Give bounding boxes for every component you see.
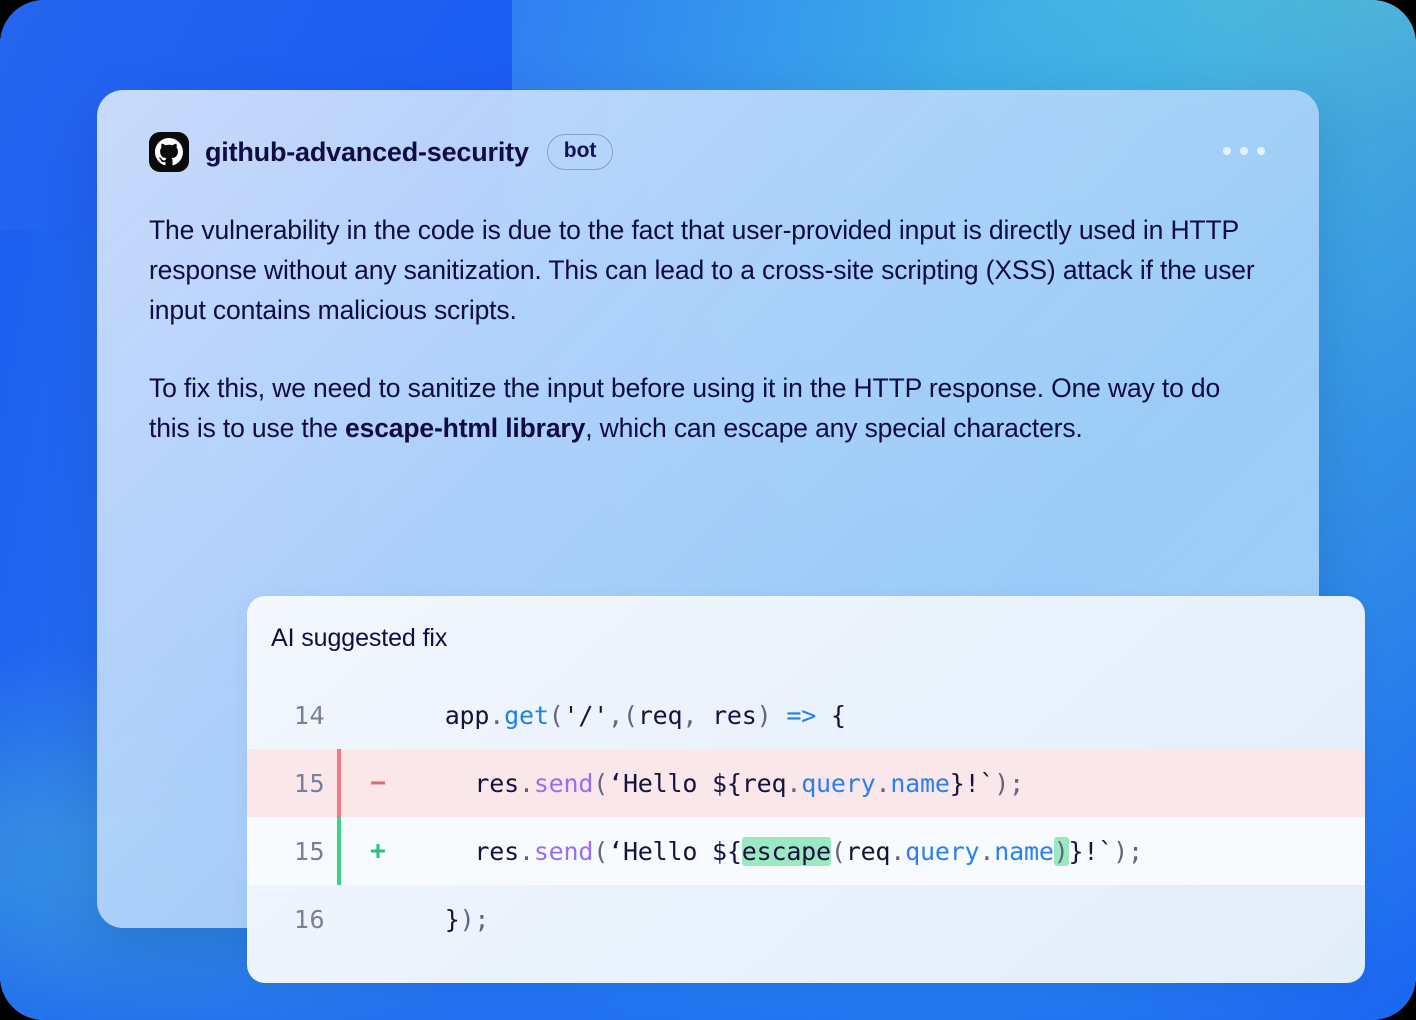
ellipsis-dot (1257, 147, 1265, 155)
comment-card: github-advanced-security bot The vulnera… (97, 90, 1319, 928)
diff-row-added[interactable]: 15 + res.send(‘Hello ${escape(req.query.… (247, 817, 1365, 885)
line-number: 16 (247, 905, 337, 934)
ellipsis-dot (1240, 147, 1248, 155)
diff-row-context[interactable]: 16 }); (247, 885, 1365, 953)
code-line: app.get('/',(req, res) => { (415, 701, 1365, 730)
line-number: 15 (247, 837, 337, 866)
diff-gutter-bar (337, 681, 341, 749)
bot-badge: bot (547, 134, 614, 170)
diff-gutter-bar (337, 885, 341, 953)
line-number: 15 (247, 769, 337, 798)
gradient-background: github-advanced-security bot The vulnera… (0, 0, 1416, 1020)
ellipsis-dot (1223, 147, 1231, 155)
github-octocat-icon (149, 132, 189, 172)
diff-row-deleted[interactable]: 15 − res.send(‘Hello ${req.query.name}!`… (247, 749, 1365, 817)
body-paragraph-2: To fix this, we need to sanitize the inp… (149, 368, 1267, 448)
added-token-escape: escape (742, 837, 831, 866)
code-line: }); (415, 905, 1365, 934)
diff-sign-plus: + (341, 836, 415, 866)
escape-html-library-emphasis: escape-html library (345, 413, 585, 443)
ai-suggested-fix-panel: AI suggested fix 14 app.get('/',(req, re… (247, 596, 1365, 983)
diff-view: 14 app.get('/',(req, res) => { 15 − res.… (247, 681, 1365, 953)
line-number: 14 (247, 701, 337, 730)
added-token-close-paren: ) (1054, 837, 1069, 866)
body-paragraph-1: The vulnerability in the code is due to … (149, 210, 1267, 330)
author-name[interactable]: github-advanced-security (205, 137, 529, 168)
diff-row-context[interactable]: 14 app.get('/',(req, res) => { (247, 681, 1365, 749)
fix-panel-title: AI suggested fix (247, 620, 1365, 653)
card-header: github-advanced-security bot (149, 128, 1267, 176)
code-line: res.send(‘Hello ${req.query.name}!`); (415, 769, 1365, 798)
diff-sign-minus: − (341, 768, 415, 798)
paragraph-2-tail: , which can escape any special character… (585, 413, 1082, 443)
ellipsis-horizontal-icon[interactable] (1221, 141, 1267, 161)
code-line: res.send(‘Hello ${escape(req.query.name)… (415, 837, 1365, 866)
